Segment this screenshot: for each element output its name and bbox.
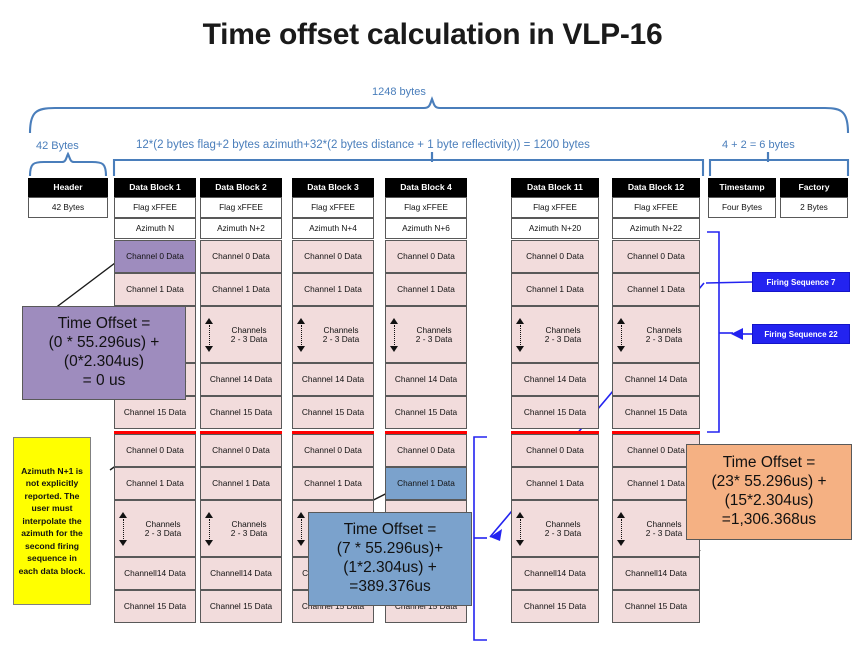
cell-label: Channels2 - 3 Data xyxy=(528,326,598,343)
cell-label: Channel 0 Data xyxy=(627,252,685,261)
cell-block1-flag: Flag xFFEE xyxy=(114,197,196,218)
cell-block1-seq2-1: Channel 1 Data xyxy=(114,467,196,500)
cell-block11-flag: Flag xFFEE xyxy=(511,197,599,218)
cell-label: Channel 0 Data xyxy=(397,446,455,455)
cell-block1-seq1-0: Channel 0 Data xyxy=(114,240,196,273)
cell-label: Data Block 1 xyxy=(129,183,181,192)
callout-line: =389.376us xyxy=(309,578,471,597)
cell-label: Channel 1 Data xyxy=(397,479,455,488)
cell-label: Channel 1 Data xyxy=(526,479,584,488)
callout-line: (1*2.304us) + xyxy=(309,559,471,578)
cell-label: Channel 15 Data xyxy=(302,408,364,417)
cell-label: Channels2 - 3 Data xyxy=(217,520,281,537)
column-header-header: Header xyxy=(28,178,108,197)
cell-label: Timestamp xyxy=(719,183,764,192)
callout-time-offset-last: Time Offset =(23* 55.296us) +(15*2.304us… xyxy=(686,444,852,540)
vertical-range-arrow-icon xyxy=(297,512,306,546)
cell-block11-seq1-2: Channels2 - 3 Data xyxy=(511,306,599,363)
cell-label: Flag xFFEE xyxy=(219,203,263,212)
column-header-block2: Data Block 2 xyxy=(200,178,282,197)
cell-label: Factory xyxy=(798,183,829,192)
column-header-block3: Data Block 3 xyxy=(292,178,374,197)
cell-label: Data Block 4 xyxy=(400,183,452,192)
callout-line: (0*2.304us) xyxy=(23,353,185,372)
cell-block12-seq2-3: Channell14 Data xyxy=(612,557,700,590)
cell-block11-seq1-4: Channel 15 Data xyxy=(511,396,599,429)
cell-label: Channel 14 Data xyxy=(210,375,272,384)
cell-label: Channel 14 Data xyxy=(395,375,457,384)
callout-line: (0 * 55.296us) + xyxy=(23,334,185,353)
cell-block11-azimuth: Azimuth N+20 xyxy=(511,218,599,239)
cell-factory-size: 2 Bytes xyxy=(780,197,848,218)
cell-block1-seq1-4: Channel 15 Data xyxy=(114,396,196,429)
cell-label: Channel 15 Data xyxy=(524,602,586,611)
cell-label: Channel 14 Data xyxy=(625,375,687,384)
cell-block4-seq1-3: Channel 14 Data xyxy=(385,363,467,396)
callout-line: (7 * 55.296us)+ xyxy=(309,540,471,559)
cell-label: Channels2 - 3 Data xyxy=(629,326,699,343)
vertical-range-arrow-icon xyxy=(205,512,214,546)
cell-label: Header xyxy=(53,183,82,192)
cell-block11-seq2-1: Channel 1 Data xyxy=(511,467,599,500)
cell-label: Channell14 Data xyxy=(210,569,272,578)
cell-label: Channel 0 Data xyxy=(304,446,362,455)
cell-label: 2 Bytes xyxy=(800,203,828,212)
cell-block12-seq1-3: Channel 14 Data xyxy=(612,363,700,396)
cell-label: Channel 1 Data xyxy=(526,285,584,294)
cell-label: Azimuth N+4 xyxy=(309,224,357,233)
cell-block11-seq2-3: Channell14 Data xyxy=(511,557,599,590)
cell-label: Channel 0 Data xyxy=(126,446,184,455)
cell-label: Channel 14 Data xyxy=(302,375,364,384)
cell-label: Channel 15 Data xyxy=(210,408,272,417)
cell-label: Channel 1 Data xyxy=(126,285,184,294)
cell-block3-seq1-2: Channels2 - 3 Data xyxy=(292,306,374,363)
cell-label: Channel 0 Data xyxy=(212,252,270,261)
cell-block11-seq2-0: Channel 0 Data xyxy=(511,434,599,467)
vertical-range-arrow-icon xyxy=(205,318,214,352)
cell-block2-seq2-3: Channell14 Data xyxy=(200,557,282,590)
cell-block11-seq2-2: Channels2 - 3 Data xyxy=(511,500,599,557)
annotation-total-bytes: 1248 bytes xyxy=(372,86,426,98)
vertical-range-arrow-icon xyxy=(516,318,525,352)
cell-label: Channel 14 Data xyxy=(524,375,586,384)
cell-block4-seq2-0: Channel 0 Data xyxy=(385,434,467,467)
callout-line: (23* 55.296us) + xyxy=(687,473,851,492)
cell-label: Channel 1 Data xyxy=(212,479,270,488)
cell-block3-seq1-0: Channel 0 Data xyxy=(292,240,374,273)
vertical-range-arrow-icon xyxy=(119,512,128,546)
cell-label: Channel 1 Data xyxy=(304,285,362,294)
cell-block12-seq1-2: Channels2 - 3 Data xyxy=(612,306,700,363)
callout-line: Time Offset = xyxy=(687,454,851,473)
cell-label: Azimuth N+22 xyxy=(630,224,682,233)
cell-block3-seq1-3: Channel 14 Data xyxy=(292,363,374,396)
cell-block2-seq1-3: Channel 14 Data xyxy=(200,363,282,396)
callout-line: = 0 us xyxy=(23,372,185,391)
cell-block4-flag: Flag xFFEE xyxy=(385,197,467,218)
callout-line: Time Offset = xyxy=(23,315,185,334)
cell-label: Channel 0 Data xyxy=(212,446,270,455)
cell-label: Channel 1 Data xyxy=(397,285,455,294)
cell-label: Channel 0 Data xyxy=(526,252,584,261)
cell-label: Channel 15 Data xyxy=(524,408,586,417)
cell-label: Flag xFFEE xyxy=(133,203,177,212)
cell-label: Data Block 2 xyxy=(215,183,267,192)
column-header-timestamp: Timestamp xyxy=(708,178,776,197)
cell-block3-azimuth: Azimuth N+4 xyxy=(292,218,374,239)
cell-block2-seq2-0: Channel 0 Data xyxy=(200,434,282,467)
cell-block11-seq2-4: Channel 15 Data xyxy=(511,590,599,623)
cell-block3-seq1-1: Channel 1 Data xyxy=(292,273,374,306)
cell-label: Data Block 12 xyxy=(628,183,684,192)
cell-block2-seq2-1: Channel 1 Data xyxy=(200,467,282,500)
column-header-block1: Data Block 1 xyxy=(114,178,196,197)
cell-label: Azimuth N xyxy=(136,224,174,233)
column-header-block11: Data Block 11 xyxy=(511,178,599,197)
note-azimuth-interpolation: Azimuth N+1 is not explicitly reported. … xyxy=(13,437,91,605)
callout-line: (15*2.304us) xyxy=(687,492,851,511)
cell-block4-azimuth: Azimuth N+6 xyxy=(385,218,467,239)
cell-block1-seq2-0: Channel 0 Data xyxy=(114,434,196,467)
cell-label: Channel 1 Data xyxy=(627,285,685,294)
cell-label: Channel 15 Data xyxy=(625,408,687,417)
cell-label: Channel 0 Data xyxy=(627,446,685,455)
cell-block2-seq1-1: Channel 1 Data xyxy=(200,273,282,306)
cell-label: Channels2 - 3 Data xyxy=(402,326,466,343)
vertical-range-arrow-icon xyxy=(390,318,399,352)
cell-label: Flag xFFEE xyxy=(404,203,448,212)
cell-block12-seq1-1: Channel 1 Data xyxy=(612,273,700,306)
vertical-range-arrow-icon xyxy=(297,318,306,352)
cell-label: Data Block 3 xyxy=(307,183,359,192)
cell-label: Channel 0 Data xyxy=(304,252,362,261)
callout-time-offset-middle: Time Offset =(7 * 55.296us)+(1*2.304us) … xyxy=(308,512,472,606)
callout-line: =1,306.368us xyxy=(687,511,851,530)
vertical-range-arrow-icon xyxy=(617,318,626,352)
cell-label: Data Block 11 xyxy=(527,183,583,192)
cell-label: Azimuth N+20 xyxy=(529,224,581,233)
cell-timestamp-size: Four Bytes xyxy=(708,197,776,218)
tag-firing-sequence-22[interactable]: Firing Sequence 22 xyxy=(752,324,850,344)
cell-block3-seq1-4: Channel 15 Data xyxy=(292,396,374,429)
cell-block12-seq1-0: Channel 0 Data xyxy=(612,240,700,273)
column-header-block4: Data Block 4 xyxy=(385,178,467,197)
cell-block2-seq2-4: Channel 15 Data xyxy=(200,590,282,623)
cell-block2-seq1-2: Channels2 - 3 Data xyxy=(200,306,282,363)
cell-block11-seq1-1: Channel 1 Data xyxy=(511,273,599,306)
cell-label: Azimuth N+6 xyxy=(402,224,450,233)
cell-block4-seq1-1: Channel 1 Data xyxy=(385,273,467,306)
cell-block2-seq1-0: Channel 0 Data xyxy=(200,240,282,273)
cell-label: Channel 15 Data xyxy=(395,408,457,417)
cell-label: Channel 0 Data xyxy=(126,252,184,261)
vertical-range-arrow-icon xyxy=(516,512,525,546)
cell-block11-seq1-0: Channel 0 Data xyxy=(511,240,599,273)
cell-block1-seq2-4: Channel 15 Data xyxy=(114,590,196,623)
cell-block2-seq2-2: Channels2 - 3 Data xyxy=(200,500,282,557)
cell-label: Flag xFFEE xyxy=(311,203,355,212)
cell-label: Flag xFFEE xyxy=(634,203,678,212)
cell-block12-seq2-4: Channel 15 Data xyxy=(612,590,700,623)
cell-label: Channel 1 Data xyxy=(627,479,685,488)
cell-header-size: 42 Bytes xyxy=(28,197,108,218)
cell-block3-seq2-1: Channel 1 Data xyxy=(292,467,374,500)
cell-label: Channel 15 Data xyxy=(124,408,186,417)
cell-block12-flag: Flag xFFEE xyxy=(612,197,700,218)
cell-block4-seq1-4: Channel 15 Data xyxy=(385,396,467,429)
annotation-payload-bytes: 12*(2 bytes flag+2 bytes azimuth+32*(2 b… xyxy=(136,139,590,151)
callout-time-offset-first: Time Offset =(0 * 55.296us) +(0*2.304us)… xyxy=(22,306,186,400)
vertical-range-arrow-icon xyxy=(617,512,626,546)
cell-label: Channels2 - 3 Data xyxy=(131,520,195,537)
annotation-header-bytes: 42 Bytes xyxy=(36,140,79,152)
cell-label: Channel 0 Data xyxy=(397,252,455,261)
cell-label: Channel 15 Data xyxy=(625,602,687,611)
cell-block3-seq2-0: Channel 0 Data xyxy=(292,434,374,467)
cell-block4-seq1-2: Channels2 - 3 Data xyxy=(385,306,467,363)
cell-block1-seq1-1: Channel 1 Data xyxy=(114,273,196,306)
cell-block2-flag: Flag xFFEE xyxy=(200,197,282,218)
cell-block12-azimuth: Azimuth N+22 xyxy=(612,218,700,239)
cell-block1-seq2-3: Channell14 Data xyxy=(114,557,196,590)
callout-line: Time Offset = xyxy=(309,521,471,540)
cell-label: Channels2 - 3 Data xyxy=(217,326,281,343)
cell-block2-azimuth: Azimuth N+2 xyxy=(200,218,282,239)
annotation-tail-bytes: 4 + 2 = 6 bytes xyxy=(722,139,795,151)
cell-label: Channel 1 Data xyxy=(126,479,184,488)
cell-block3-flag: Flag xFFEE xyxy=(292,197,374,218)
cell-block11-seq1-3: Channel 14 Data xyxy=(511,363,599,396)
cell-label: Four Bytes xyxy=(722,203,762,212)
cell-label: Channell14 Data xyxy=(625,569,687,578)
cell-label: Azimuth N+2 xyxy=(217,224,265,233)
cell-label: Channels2 - 3 Data xyxy=(309,326,373,343)
cell-label: 42 Bytes xyxy=(52,203,84,212)
cell-block4-seq2-1: Channel 1 Data xyxy=(385,467,467,500)
cell-block12-seq1-4: Channel 15 Data xyxy=(612,396,700,429)
page-title: Time offset calculation in VLP-16 xyxy=(0,18,865,52)
cell-label: Channel 15 Data xyxy=(124,602,186,611)
cell-label: Channel 0 Data xyxy=(526,446,584,455)
tag-firing-sequence-7[interactable]: Firing Sequence 7 xyxy=(752,272,850,292)
cell-label: Channels2 - 3 Data xyxy=(528,520,598,537)
cell-label: Channel 1 Data xyxy=(304,479,362,488)
cell-label: Channel 15 Data xyxy=(210,602,272,611)
cell-label: Flag xFFEE xyxy=(533,203,577,212)
cell-label: Channel 1 Data xyxy=(212,285,270,294)
cell-block4-seq1-0: Channel 0 Data xyxy=(385,240,467,273)
cell-block1-seq2-2: Channels2 - 3 Data xyxy=(114,500,196,557)
cell-label: Channell14 Data xyxy=(524,569,586,578)
cell-block2-seq1-4: Channel 15 Data xyxy=(200,396,282,429)
column-header-block12: Data Block 12 xyxy=(612,178,700,197)
cell-label: Channell14 Data xyxy=(124,569,186,578)
column-header-factory: Factory xyxy=(780,178,848,197)
cell-block1-azimuth: Azimuth N xyxy=(114,218,196,239)
